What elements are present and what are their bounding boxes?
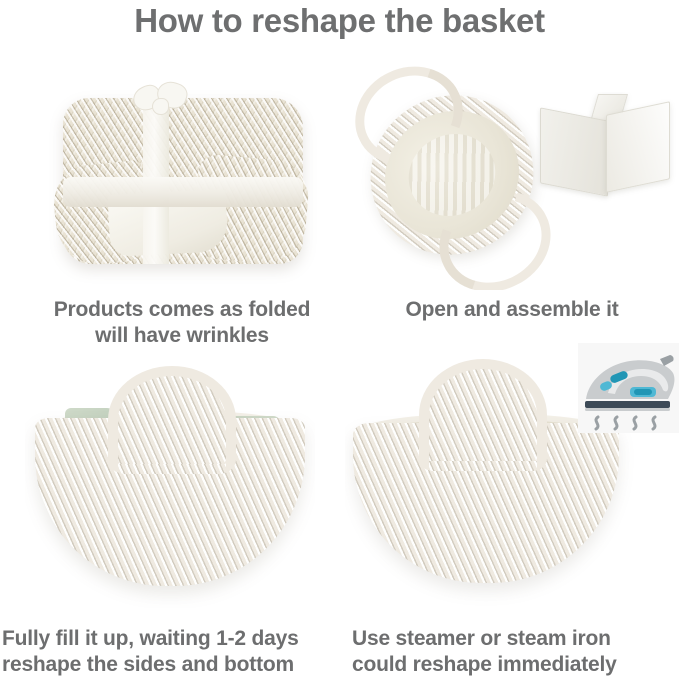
divider-insert-photo [536, 92, 676, 204]
caption-step-4-line-1: Use steamer or steam iron [352, 626, 679, 652]
caption-step-2-line-1: Open and assemble it [352, 297, 672, 323]
ribbon-horizontal [63, 177, 303, 207]
open-basket-top-view-photo [352, 62, 552, 290]
infographic-page: How to reshape the basket Products comes… [0, 0, 679, 687]
caption-step-4: Use steamer or steam iron could reshape … [352, 626, 679, 678]
caption-step-3-line-2: reshape the sides and bottom [2, 652, 347, 678]
steam-iron-icon [578, 343, 679, 433]
empty-basket-handle [419, 359, 547, 471]
caption-step-1-line-2: will have wrinkles [22, 323, 342, 349]
caption-step-4-line-2: could reshape immediately [352, 652, 679, 678]
divider-panel-right [606, 101, 670, 193]
folded-basket-photo [45, 72, 325, 286]
caption-step-3: Fully fill it up, waiting 1-2 days resha… [2, 626, 347, 678]
filled-basket-handle [108, 366, 236, 474]
caption-step-2: Open and assemble it [352, 297, 672, 323]
caption-step-1-line-1: Products comes as folded [22, 297, 342, 323]
page-title: How to reshape the basket [0, 2, 679, 40]
caption-step-3-line-1: Fully fill it up, waiting 1-2 days [2, 626, 347, 652]
filled-basket-photo [25, 358, 315, 608]
caption-step-1: Products comes as folded will have wrink… [22, 297, 342, 349]
divider-panel-left [540, 107, 608, 196]
ribbon-bow-icon [133, 80, 187, 126]
